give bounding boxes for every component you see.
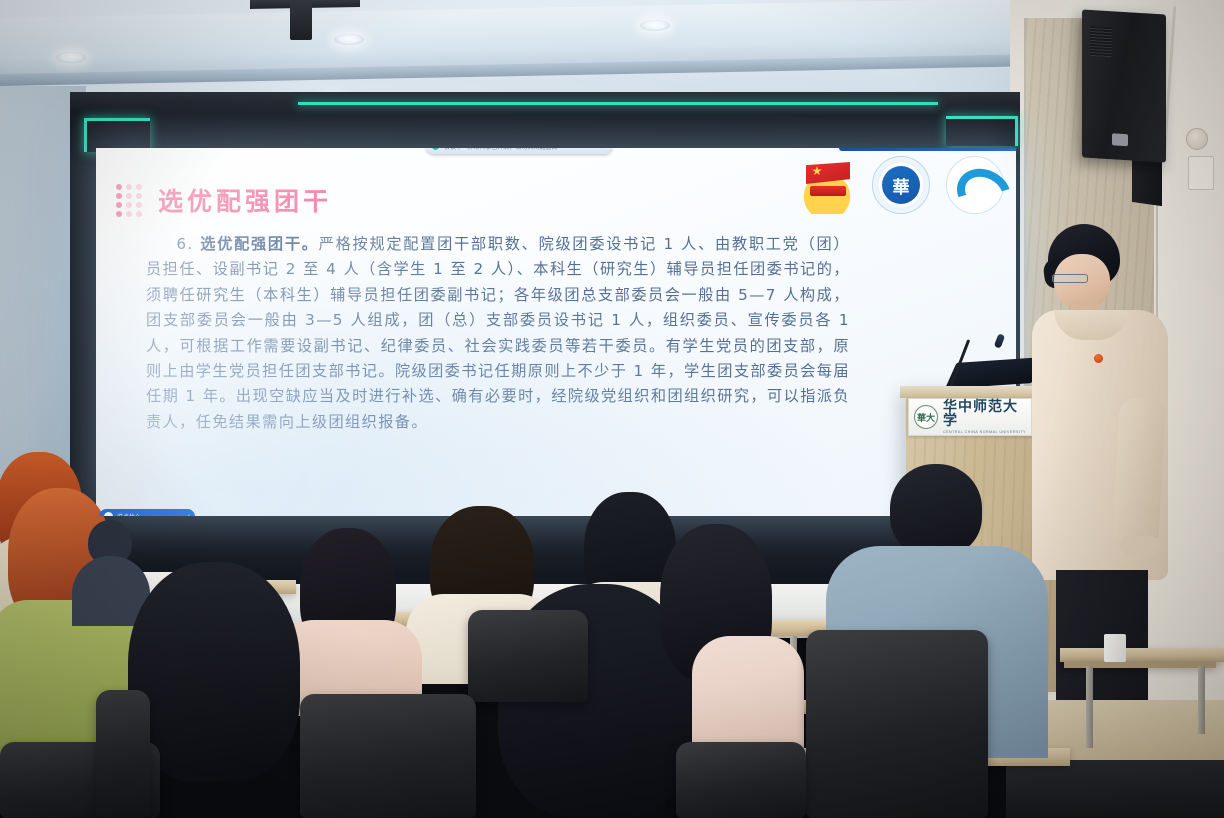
wall-junction-box	[1188, 156, 1214, 190]
auditorium-chair	[806, 630, 988, 818]
pa-speaker	[1082, 9, 1166, 162]
lecture-hall-photo: 您正在共享屏幕 结束共享 会议中 · 屏幕共享已开启，请勿关闭此窗口 ✕ 正在讲…	[0, 0, 1224, 818]
slide-content: 華 选优配强团干 6. 选优配强团干。严格按规定配置团干部职数、院级团委设书记 …	[96, 148, 1016, 516]
wall-sensor-icon	[1186, 128, 1208, 150]
auditorium-chair	[676, 742, 806, 818]
track-spotlight	[290, 0, 312, 40]
ccnu-university-seal: 華	[872, 156, 930, 214]
glasses-icon	[1052, 274, 1088, 283]
presenter-arm	[1112, 397, 1166, 549]
lectern-name-plate: 華大 华中师范大学 CENTRAL CHINA NORMAL UNIVERSIT…	[908, 398, 1032, 436]
stage-riser-face	[1006, 760, 1224, 818]
downlight-icon	[56, 52, 86, 63]
close-icon[interactable]: ✕	[599, 148, 606, 151]
slide-body: 6. 选优配强团干。严格按规定配置团干部职数、院级团委设书记 1 人、由教职工党…	[110, 232, 938, 435]
institution-name-en: CENTRAL CHINA NORMAL UNIVERSITY	[943, 430, 1026, 434]
led-accent-corner	[946, 116, 1018, 146]
chat-input-pill[interactable]: 说点什么... ‹	[99, 509, 195, 516]
slide-title: 选优配强团干	[158, 182, 332, 218]
auditorium-chair	[300, 694, 476, 818]
institution-name-cn: 华中师范大学	[943, 400, 1026, 428]
paper-cup	[1104, 634, 1126, 662]
desk-leg	[1198, 666, 1205, 734]
slide-body-number: 6.	[176, 235, 193, 253]
presenter-cuff	[1120, 536, 1160, 556]
led-accent-strip	[298, 102, 938, 105]
slide-logos: 華	[798, 156, 1004, 214]
university-seal-icon: 華大	[914, 405, 938, 429]
speaker-grille-icon	[1090, 26, 1112, 57]
speaker-brand-logo	[1112, 133, 1128, 146]
meeting-toolbar-label: 会议中 · 屏幕共享已开启，请勿关闭此窗口	[444, 148, 594, 151]
slide-body-heading: 选优配强团干。	[200, 235, 318, 253]
party-badge-pin	[1094, 354, 1103, 363]
downlight-icon	[640, 20, 670, 31]
desk-leg	[1086, 666, 1093, 748]
projection-screen: 您正在共享屏幕 结束共享 会议中 · 屏幕共享已开启，请勿关闭此窗口 ✕ 正在讲…	[96, 148, 1016, 516]
chat-input[interactable]: 说点什么...	[117, 512, 184, 516]
meeting-toolbar[interactable]: 会议中 · 屏幕共享已开启，请勿关闭此窗口 ✕	[426, 148, 612, 154]
auditorium-chair	[468, 610, 588, 702]
side-desk	[1060, 648, 1224, 662]
chat-bubble-icon	[104, 512, 113, 516]
dot-grid-ornament	[116, 184, 142, 217]
active-speaker-bar: 正在讲话: 余思纳	[839, 148, 1016, 151]
communist-youth-league-emblem	[798, 156, 856, 214]
seal-glyph: 華	[882, 166, 920, 204]
slide-body-text: 严格按规定配置团干部职数、院级团委设书记 1 人、由教职工党（团）员担任、设副书…	[146, 235, 850, 431]
blue-swirl-logo	[946, 156, 1004, 214]
led-accent-corner	[84, 118, 150, 152]
recording-dot-icon	[432, 148, 439, 150]
auditorium-chair	[96, 690, 150, 818]
downlight-icon	[334, 34, 364, 45]
chevron-left-icon[interactable]: ‹	[188, 513, 190, 516]
